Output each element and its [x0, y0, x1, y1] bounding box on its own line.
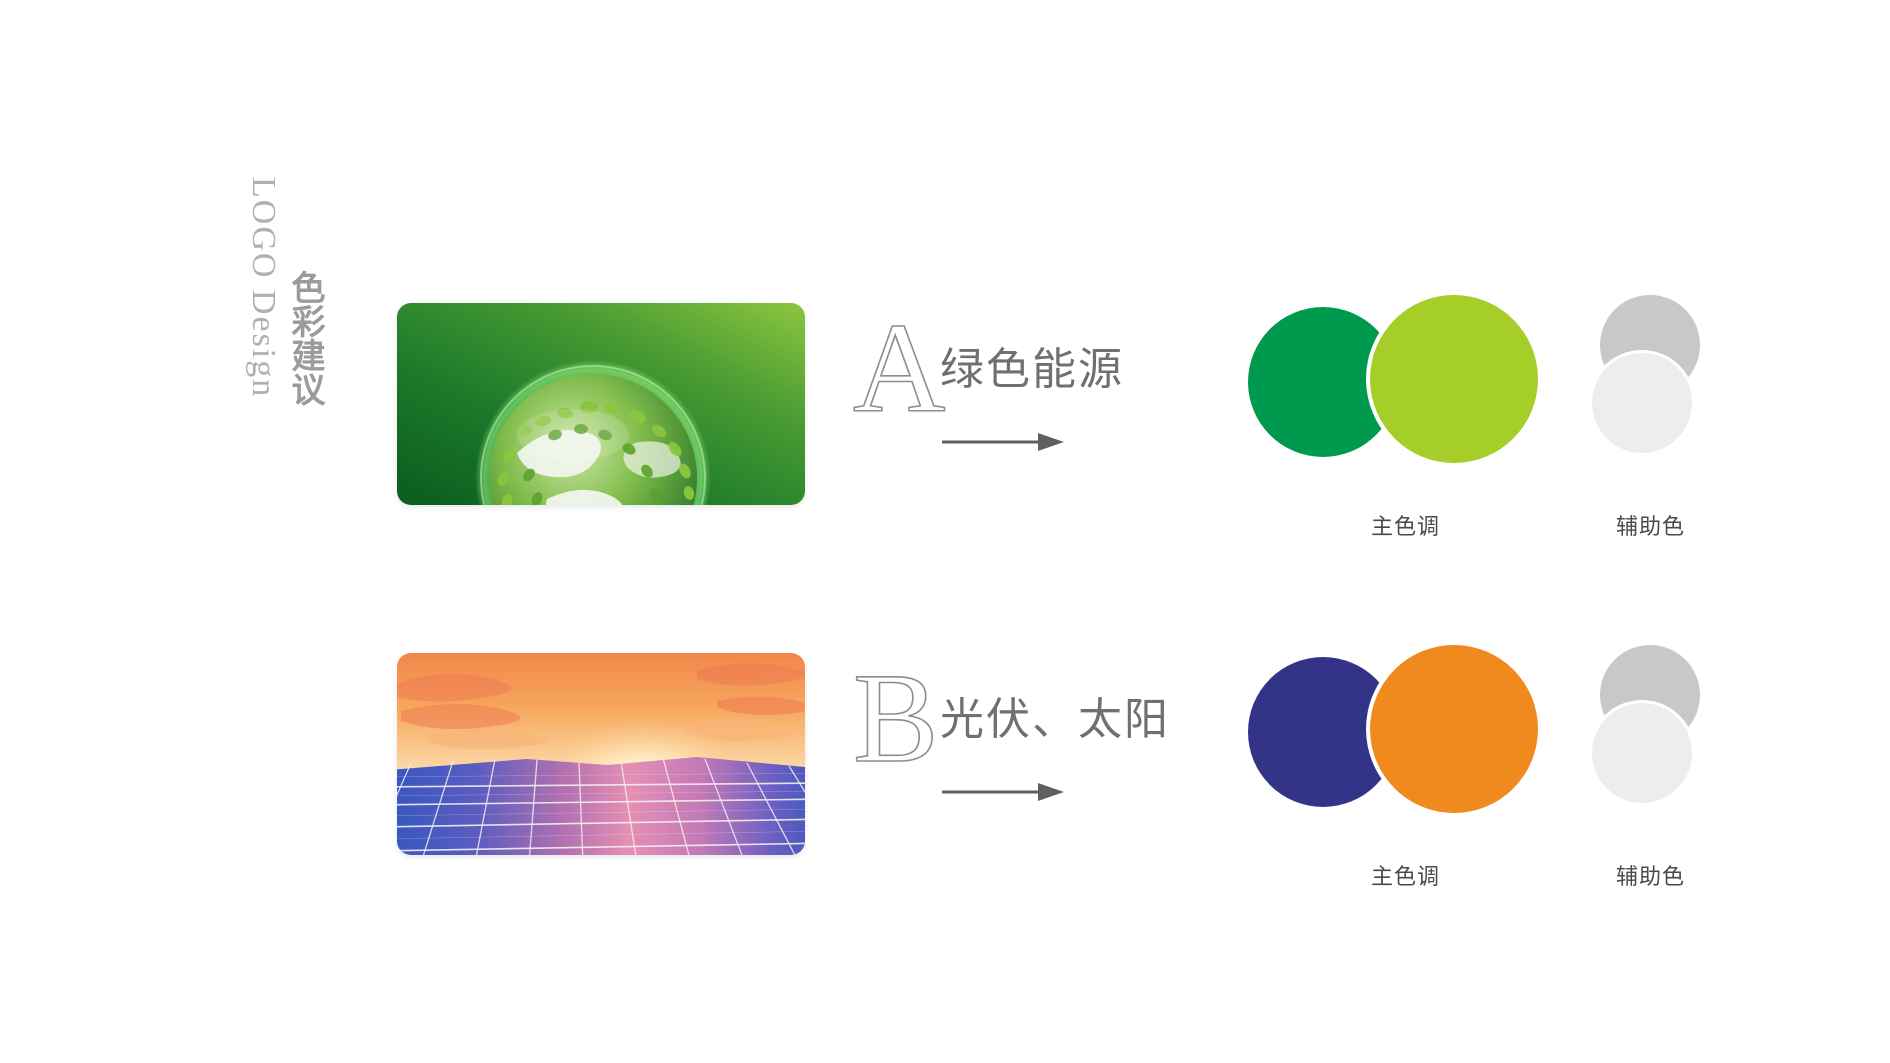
solar-panels-sunset-photo — [397, 653, 805, 855]
color-proposal-page: LOGO Design 色彩建议 — [0, 0, 1890, 1063]
arrow-right-icon — [942, 781, 1064, 803]
auxiliary-swatch-label: 辅助色 — [1616, 859, 1685, 891]
arrow-right-icon — [942, 431, 1064, 453]
auxiliary-color-swatch-2 — [1592, 703, 1692, 803]
section-caption-a: 绿色能源 — [940, 333, 1124, 397]
auxiliary-swatch-label: 辅助色 — [1616, 509, 1685, 541]
auxiliary-color-swatch-2 — [1592, 353, 1692, 453]
primary-swatch-label: 主色调 — [1371, 859, 1440, 891]
section-caption-b: 光伏、太阳 — [940, 683, 1170, 747]
primary-color-swatch-2 — [1370, 295, 1538, 463]
section-row-b: B 光伏、太阳 主色调 辅助色 — [0, 645, 1890, 905]
section-row-a: A 绿色能源 主色调 辅助色 — [0, 295, 1890, 555]
green-globe-leaves-photo — [397, 303, 805, 505]
primary-swatch-label: 主色调 — [1371, 509, 1440, 541]
primary-color-swatch-2 — [1370, 645, 1538, 813]
